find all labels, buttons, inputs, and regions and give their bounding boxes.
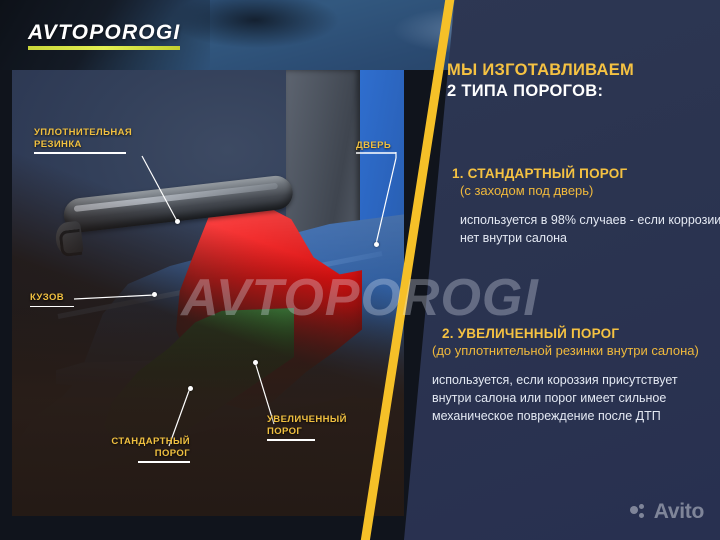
callout-label-seal: УПЛОТНИТЕЛЬНАЯ РЕЗИНКА: [34, 127, 149, 154]
callout-label-standard-sill: СТАНДАРТНЫЙ ПОРОГ: [94, 436, 190, 463]
brand-logo: AVTOPOROGI: [28, 22, 180, 50]
avito-logo-icon: [630, 504, 650, 520]
callout-label-body-text: КУЗОВ: [30, 292, 90, 304]
section-2-title: 2. УВЕЛИЧЕННЫЙ ПОРОГ: [442, 325, 704, 342]
door-leader-line: [348, 140, 410, 265]
avito-watermark: Avito: [630, 501, 704, 522]
callout-dot-enlarged-sill: [253, 360, 258, 365]
callout-underline-enlarged-sill: [267, 439, 315, 441]
brand-logo-underline: [28, 46, 180, 50]
callout-label-door-text: ДВЕРЬ: [356, 140, 416, 152]
section-standard-sill: 1. СТАНДАРТНЫЙ ПОРОГ (с заходом под двер…: [452, 165, 720, 247]
image-canvas: AVTOPOROGI: [0, 0, 720, 540]
callout-underline-seal: [34, 152, 126, 154]
section-enlarged-sill: 2. УВЕЛИЧЕННЫЙ ПОРОГ (до уплотнительной …: [432, 325, 704, 425]
callout-label-door: ДВЕРЬ: [356, 140, 416, 152]
brand-logo-text: AVTOPOROGI: [28, 22, 180, 43]
callout-label-standard-sill-text: СТАНДАРТНЫЙ ПОРОГ: [94, 436, 190, 459]
section-1-body: используется в 98% случаев - если корроз…: [460, 211, 720, 247]
callout-label-enlarged-sill: УВЕЛИЧЕННЫЙ ПОРОГ: [267, 414, 367, 441]
avito-wordmark: Avito: [654, 501, 704, 522]
callout-dot-seal: [175, 219, 180, 224]
callout-dot-body: [152, 292, 157, 297]
section-2-body: используется, если короззия присутствует…: [432, 371, 704, 425]
callout-dot-standard-sill: [188, 386, 193, 391]
text-panel: МЫ ИЗГОТАВЛИВАЕМ 2 ТИПА ПОРОГОВ: 1. СТАН…: [404, 0, 720, 540]
callout-label-enlarged-sill-text: УВЕЛИЧЕННЫЙ ПОРОГ: [267, 414, 367, 437]
panel-heading-line2: 2 ТИПА ПОРОГОВ:: [447, 81, 717, 101]
callout-label-body: КУЗОВ: [30, 292, 90, 307]
section-1-subtitle: (с заходом под дверь): [460, 182, 720, 199]
sill-diagram: УПЛОТНИТЕЛЬНАЯ РЕЗИНКА КУЗОВ СТАНДАРТНЫЙ…: [12, 70, 404, 516]
section-1-title: 1. СТАНДАРТНЫЙ ПОРОГ: [452, 165, 720, 182]
callout-dot-door: [374, 242, 379, 247]
callout-underline-body: [30, 306, 74, 308]
panel-heading-line1: МЫ ИЗГОТАВЛИВАЕМ: [447, 60, 717, 80]
callout-label-seal-text: УПЛОТНИТЕЛЬНАЯ РЕЗИНКА: [34, 127, 149, 150]
callout-underline-standard-sill: [138, 461, 190, 463]
section-2-subtitle: (до уплотнительной резинки внутри салона…: [432, 342, 704, 359]
